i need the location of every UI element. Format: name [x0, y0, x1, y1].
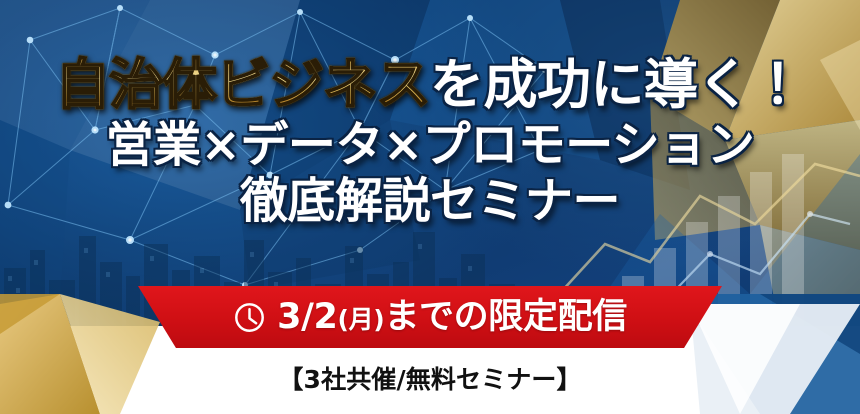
- headline-block: 自治体ビジネスを成功に導く！ 営業×データ×プロモーション 徹底解説セミナー: [0, 0, 860, 290]
- deadline-weekday: (月): [338, 305, 385, 334]
- deadline-ribbon: 3/2(月)までの限定配信: [138, 286, 722, 348]
- deadline-date: 3/2: [277, 297, 337, 337]
- headline-line-1: 自治体ビジネスを成功に導く！: [56, 58, 804, 112]
- clock-icon: [233, 301, 266, 334]
- headline-line-1-gold: 自治体ビジネス: [56, 53, 430, 116]
- headline-line-2: 営業×データ×プロモーション: [106, 121, 755, 169]
- deadline-suffix: までの限定配信: [384, 297, 627, 337]
- footer-note: 【3社共催/無料セミナー】: [0, 360, 860, 396]
- seminar-banner: 自治体ビジネスを成功に導く！ 営業×データ×プロモーション 徹底解説セミナー 3…: [0, 0, 860, 414]
- deadline-text: 3/2(月)までの限定配信: [277, 300, 627, 335]
- headline-line-1-white: を成功に導く！: [430, 53, 804, 116]
- headline-line-3: 徹底解説セミナー: [240, 177, 620, 225]
